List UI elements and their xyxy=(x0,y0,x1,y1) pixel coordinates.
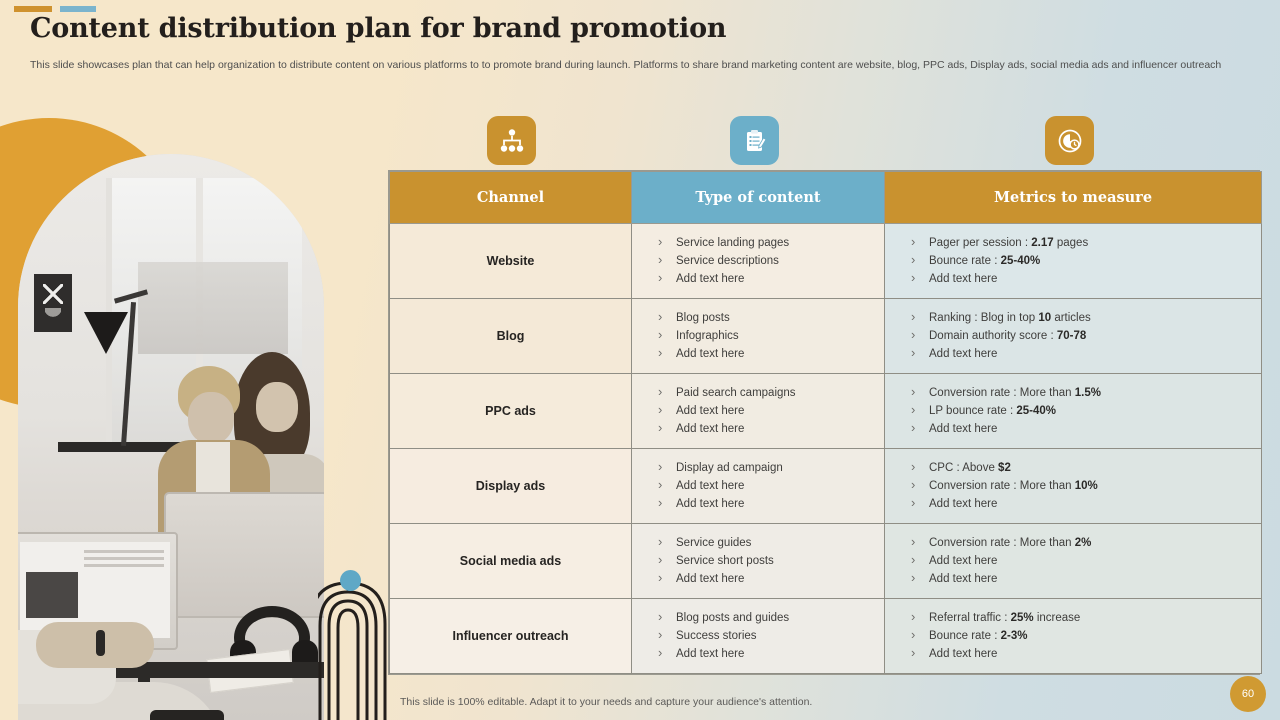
clipboard-checklist-icon xyxy=(742,128,768,154)
list-item: CPC : Above $2 xyxy=(911,459,1261,477)
cell-type-of-content: Display ad campaignAdd text hereAdd text… xyxy=(632,449,885,524)
column-header-channel: Channel xyxy=(390,172,632,224)
page-subtitle: This slide showcases plan that can help … xyxy=(30,58,1256,72)
icon-badge-row xyxy=(0,116,1280,172)
table-row: PPC adsPaid search campaignsAdd text her… xyxy=(390,374,1262,449)
photo-wristband xyxy=(96,630,105,656)
cell-metrics: Pager per session : 2.17 pagesBounce rat… xyxy=(885,224,1262,299)
cell-metrics: Conversion rate : More than 2%Add text h… xyxy=(885,524,1262,599)
list-item: Domain authority score : 70-78 xyxy=(911,327,1261,345)
list-item: Add text here xyxy=(911,570,1261,588)
list-item: Blog posts and guides xyxy=(658,609,884,627)
list-item: Conversion rate : More than 2% xyxy=(911,534,1261,552)
cell-channel: PPC ads xyxy=(390,374,632,449)
list-item: Infographics xyxy=(658,327,884,345)
photo-desk-lamp xyxy=(84,312,128,354)
photo-person-man-face xyxy=(188,392,234,444)
list-item: Paid search campaigns xyxy=(658,384,884,402)
cell-channel: Influencer outreach xyxy=(390,599,632,674)
accent-bar-orange xyxy=(14,6,52,12)
cell-type-of-content: Service landing pagesService description… xyxy=(632,224,885,299)
list-item: Conversion rate : More than 10% xyxy=(911,477,1261,495)
list-item: Success stories xyxy=(658,627,884,645)
list-item: Bounce rate : 2-3% xyxy=(911,627,1261,645)
photo-bag xyxy=(150,710,224,720)
accent-bar-blue xyxy=(60,6,96,12)
cell-channel: Blog xyxy=(390,299,632,374)
list-item: Pager per session : 2.17 pages xyxy=(911,234,1261,252)
list-item: Add text here xyxy=(658,345,884,363)
decorative-blue-dot xyxy=(340,570,361,591)
column-header-metrics: Metrics to measure xyxy=(885,172,1262,224)
team-photo xyxy=(18,154,324,720)
list-item: Service guides xyxy=(658,534,884,552)
list-item: Blog posts xyxy=(658,309,884,327)
photo-laptop-primary xyxy=(164,492,324,618)
photo-person-woman-face xyxy=(256,382,298,432)
list-item: Add text here xyxy=(658,495,884,513)
cell-type-of-content: Blog posts and guidesSuccess storiesAdd … xyxy=(632,599,885,674)
list-item: Add text here xyxy=(911,645,1261,663)
badge-channel xyxy=(487,116,536,165)
list-item: Ranking : Blog in top 10 articles xyxy=(911,309,1261,327)
badge-type-of-content xyxy=(730,116,779,165)
content-distribution-table: Channel Type of content Metrics to measu… xyxy=(388,170,1260,675)
cell-metrics: Referral traffic : 25% increaseBounce ra… xyxy=(885,599,1262,674)
list-item: LP bounce rate : 25-40% xyxy=(911,402,1261,420)
table-body: WebsiteService landing pagesService desc… xyxy=(390,224,1262,674)
cell-type-of-content: Paid search campaignsAdd text hereAdd te… xyxy=(632,374,885,449)
list-item: Add text here xyxy=(658,420,884,438)
list-item: Conversion rate : More than 1.5% xyxy=(911,384,1261,402)
list-item: Add text here xyxy=(658,477,884,495)
table-header-row: Channel Type of content Metrics to measu… xyxy=(390,172,1262,224)
photo-hands xyxy=(36,622,154,668)
list-item: Referral traffic : 25% increase xyxy=(911,609,1261,627)
footer-note: This slide is 100% editable. Adapt it to… xyxy=(400,696,812,708)
list-item: Add text here xyxy=(911,552,1261,570)
page-number-badge: 60 xyxy=(1230,676,1266,712)
table-row: WebsiteService landing pagesService desc… xyxy=(390,224,1262,299)
list-item: Add text here xyxy=(911,420,1261,438)
table-row: Display adsDisplay ad campaignAdd text h… xyxy=(390,449,1262,524)
page-title: Content distribution plan for brand prom… xyxy=(30,14,1256,44)
column-header-type: Type of content xyxy=(632,172,885,224)
table-row: Influencer outreachBlog posts and guides… xyxy=(390,599,1262,674)
slide-header: Content distribution plan for brand prom… xyxy=(30,14,1256,72)
cell-metrics: Conversion rate : More than 1.5%LP bounc… xyxy=(885,374,1262,449)
org-chart-icon xyxy=(499,128,525,154)
list-item: Add text here xyxy=(658,645,884,663)
list-item: Service descriptions xyxy=(658,252,884,270)
list-item: Add text here xyxy=(658,570,884,588)
left-visual-group xyxy=(0,118,372,720)
cell-type-of-content: Blog postsInfographicsAdd text here xyxy=(632,299,885,374)
cell-type-of-content: Service guidesService short postsAdd tex… xyxy=(632,524,885,599)
list-item: Add text here xyxy=(658,402,884,420)
list-item: Service short posts xyxy=(658,552,884,570)
table-row: BlogBlog postsInfographicsAdd text hereR… xyxy=(390,299,1262,374)
badge-metrics xyxy=(1045,116,1094,165)
cell-metrics: CPC : Above $2Conversion rate : More tha… xyxy=(885,449,1262,524)
photo-wall-poster xyxy=(34,274,72,332)
list-item: Add text here xyxy=(911,495,1261,513)
list-item: Bounce rate : 25-40% xyxy=(911,252,1261,270)
cell-channel: Display ads xyxy=(390,449,632,524)
list-item: Display ad campaign xyxy=(658,459,884,477)
cell-metrics: Ranking : Blog in top 10 articlesDomain … xyxy=(885,299,1262,374)
photo-building xyxy=(138,262,288,354)
cell-channel: Website xyxy=(390,224,632,299)
accent-bars xyxy=(14,6,96,12)
list-item: Add text here xyxy=(658,270,884,288)
table-row: Social media adsService guidesService sh… xyxy=(390,524,1262,599)
list-item: Service landing pages xyxy=(658,234,884,252)
list-item: Add text here xyxy=(911,345,1261,363)
list-item: Add text here xyxy=(911,270,1261,288)
gauge-meter-icon xyxy=(1057,128,1083,154)
cell-channel: Social media ads xyxy=(390,524,632,599)
